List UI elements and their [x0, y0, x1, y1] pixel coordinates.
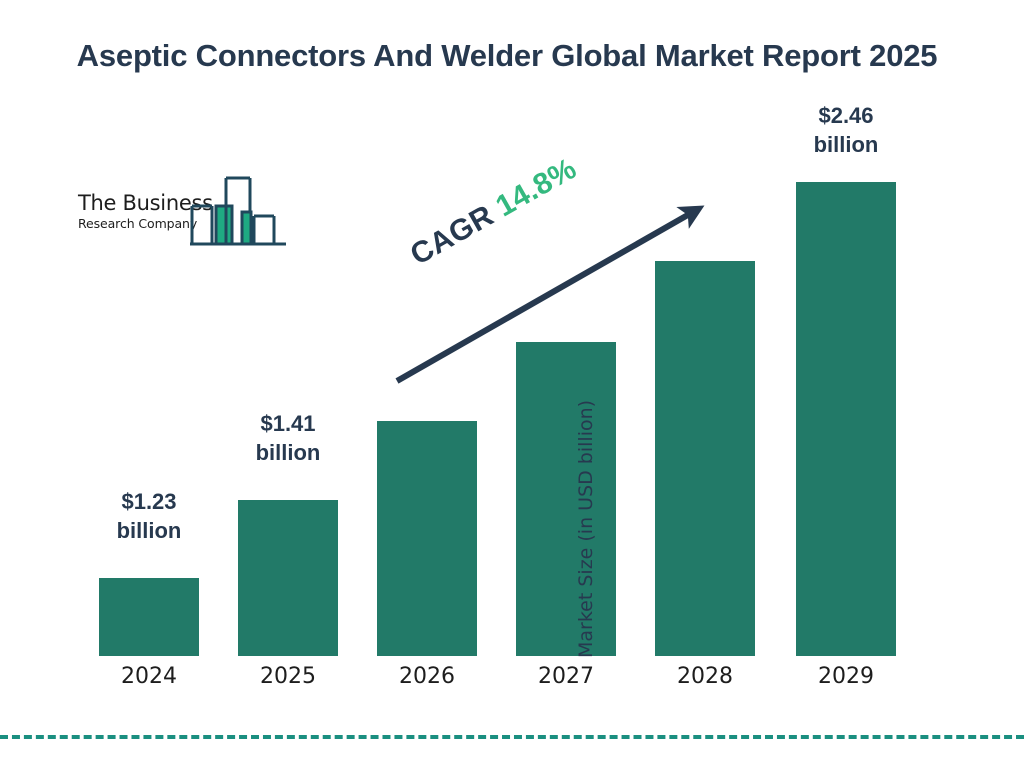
- x-label-2029: 2029: [796, 664, 896, 689]
- bar-value-2029: $2.46 billion: [776, 101, 916, 159]
- bar-value-2025-amount: $1.41: [218, 409, 358, 438]
- bar-value-2024-unit: billion: [79, 516, 219, 545]
- x-label-2026: 2026: [377, 664, 477, 689]
- bar-2026[interactable]: [377, 421, 477, 656]
- cagr-value: 14.8%: [490, 152, 582, 223]
- bottom-divider: [0, 735, 1024, 739]
- bar-2024[interactable]: [99, 578, 199, 656]
- bar-2025[interactable]: [238, 500, 338, 656]
- chart-page: Aseptic Connectors And Welder Global Mar…: [0, 0, 1024, 768]
- x-label-2024: 2024: [99, 664, 199, 689]
- bar-chart-plot: $1.23 billion $1.41 billion $2.46 billio…: [0, 0, 1024, 768]
- bar-value-2029-amount: $2.46: [776, 101, 916, 130]
- bar-2029[interactable]: [796, 182, 896, 656]
- bar-value-2024-amount: $1.23: [79, 487, 219, 516]
- y-axis-title-text: Market Size (in USD billion): [575, 328, 597, 658]
- x-label-2027: 2027: [516, 664, 616, 689]
- bar-value-2029-unit: billion: [776, 130, 916, 159]
- bar-value-2025: $1.41 billion: [218, 409, 358, 467]
- y-axis-title: Market Size (in USD billion): [575, 0, 597, 328]
- cagr-annotation: CAGR 14.8%: [405, 152, 583, 273]
- x-label-2025: 2025: [238, 664, 338, 689]
- cagr-label: CAGR: [405, 199, 499, 272]
- bar-2027[interactable]: [516, 342, 616, 656]
- x-label-2028: 2028: [655, 664, 755, 689]
- bar-value-2025-unit: billion: [218, 438, 358, 467]
- bar-2028[interactable]: [655, 261, 755, 656]
- bar-value-2024: $1.23 billion: [79, 487, 219, 545]
